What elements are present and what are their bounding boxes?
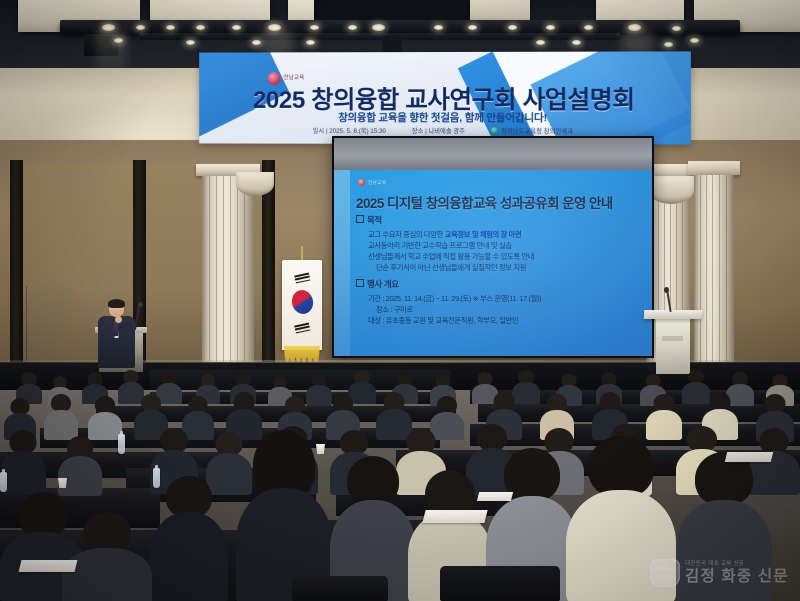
trigram-icon — [294, 323, 311, 336]
classical-column — [694, 175, 734, 375]
spotlight-icon — [546, 25, 555, 30]
water-bottle[interactable] — [0, 472, 7, 492]
banner-meta-row: 일시 | 2025. 5. 8.(목) 15:30 장소 | 나비애솔 광주 전… — [199, 126, 691, 136]
ceiling-speaker — [84, 34, 118, 56]
banner-subtitle: 창의융합 교육을 향한 첫걸음, 함께 만들어갑니다! — [199, 110, 691, 125]
slide-bullet-line: 교그 수요자 중심의 다양한 교육정보 및 체험의 장 마련 — [356, 229, 642, 240]
classical-column — [202, 176, 254, 375]
spotlight-icon — [536, 40, 545, 45]
audience-person-foreground — [150, 476, 228, 601]
handout-paper[interactable] — [422, 510, 487, 523]
square-bullet-icon — [356, 279, 364, 287]
spotlight-icon — [166, 25, 175, 30]
paper-cup[interactable] — [58, 478, 67, 488]
paper-cup[interactable] — [316, 444, 325, 454]
spotlight-icon — [268, 24, 281, 31]
slide-bullet-line: 교사동아리 기반한 교수학습 프로그램 안내 및 실습 — [356, 240, 642, 251]
presenter-hair — [108, 299, 125, 308]
handout-paper[interactable] — [477, 492, 513, 501]
microphone-head-icon — [664, 287, 669, 293]
spotlight-icon — [468, 25, 477, 30]
slide-bullet-line: 선생님들께서 학교 수업에 직접 활용 가능할 수 있도록 안내 — [356, 251, 642, 262]
spotlight-icon — [348, 25, 357, 30]
spotlight-icon — [306, 40, 315, 45]
column-swag-ornament — [648, 176, 694, 204]
audience-person — [88, 396, 122, 438]
spotlight-icon — [572, 40, 581, 45]
spotlight-icon — [310, 25, 319, 30]
water-bottle[interactable] — [118, 434, 125, 454]
banner-emblem-label: 전남교육 — [283, 73, 304, 81]
flag-cloth — [282, 260, 322, 350]
lighting-track-secondary — [140, 33, 620, 40]
presentation-slide: 전남교육 2025 디지털 창의융합교육 성과공유회 운영 안내 목적 교그 수… — [334, 170, 652, 356]
lectern-right-top — [644, 310, 703, 319]
projector-mount — [382, 36, 402, 52]
korean-flag — [278, 246, 326, 374]
handout-paper[interactable] — [725, 452, 773, 462]
column-capital — [688, 161, 740, 175]
spotlight-icon — [114, 38, 123, 43]
slide-title: 2025 디지털 창의융합교육 성과공유회 운영 안내 — [356, 192, 644, 212]
event-banner: 전남교육 2025 창의융합 교사연구회 사업설명회 창의융합 교육을 향한 첫… — [199, 51, 691, 144]
conference-hall-photo: 전남교육 2025 창의융합 교사연구회 사업설명회 창의융합 교육을 향한 첫… — [0, 0, 800, 601]
square-bullet-icon — [356, 215, 364, 223]
audience-person-foreground — [566, 436, 676, 601]
audience-person-foreground — [676, 452, 772, 601]
spotlight-icon — [628, 24, 641, 31]
slide-bullet-line: 장소 : 구미로 — [356, 304, 642, 315]
presenter-person — [88, 300, 144, 370]
audience-person — [44, 394, 78, 438]
slide-bullet-line: 기간 : 2025. 11. 14.(금) ~ 11. 29.(토) ※ 부스 … — [356, 293, 642, 304]
spotlight-icon — [690, 38, 699, 43]
taeguk-symbol-icon — [289, 288, 315, 316]
spotlight-icon — [434, 25, 443, 30]
spotlight-icon — [232, 25, 241, 30]
spotlight-icon — [196, 25, 205, 30]
audience-table — [478, 404, 800, 422]
lectern-right-plate — [662, 336, 683, 341]
slide-bullet-line: 대상 : 유초중등 교원 및 교육전문직원, 학부모, 일반인 — [356, 315, 642, 326]
spotlight-icon — [672, 26, 681, 31]
banner-meta-date: 일시 | 2025. 5. 8.(목) 15:30 — [313, 126, 386, 135]
spotlight-icon — [508, 25, 517, 30]
banner-meta-place: 장소 | 나비애솔 광주 — [412, 126, 465, 135]
projection-screen-blank-area — [334, 138, 652, 172]
column-swag-ornament — [236, 172, 274, 196]
wall-pilaster — [10, 160, 23, 375]
trigram-icon — [294, 273, 311, 286]
spotlight-icon — [186, 40, 195, 45]
audience-chair — [292, 576, 388, 601]
slide-emblem-label: 전남교육 — [368, 180, 387, 186]
org-logo-icon — [491, 127, 498, 134]
spotlight-icon — [102, 24, 115, 31]
audience-chair — [440, 566, 560, 601]
spotlight-icon — [372, 24, 385, 31]
banner-meta-org-wrap: 전라남도교육청 창의인재과 — [491, 126, 573, 135]
slide-section-purpose: 목적 교그 수요자 중심의 다양한 교육정보 및 체험의 장 마련 교사동아리 … — [356, 214, 642, 273]
slide-section-heading: 목적 — [356, 214, 642, 226]
slide-section-overview: 행사 개요 기간 : 2025. 11. 14.(금) ~ 11. 29.(토)… — [356, 278, 642, 326]
spotlight-icon — [252, 40, 261, 45]
water-bottle[interactable] — [153, 468, 160, 488]
spotlight-icon — [136, 25, 145, 30]
audience-person-foreground — [62, 512, 152, 601]
spotlight-icon — [584, 25, 593, 30]
slide-bullet-line: 단순 후기식이 아닌 선생님들에게 실질적인 정보 지원 — [356, 262, 642, 273]
slide-section-heading: 행사 개요 — [356, 278, 642, 290]
slide-emblem-icon — [358, 179, 365, 186]
banner-meta-org: 전라남도교육청 창의인재과 — [501, 128, 573, 135]
handout-paper[interactable] — [19, 560, 78, 572]
spotlight-icon — [664, 42, 673, 47]
slide-side-band — [334, 170, 350, 356]
lectern-right — [656, 316, 690, 374]
presenter-hand-holding-mic — [115, 316, 122, 323]
